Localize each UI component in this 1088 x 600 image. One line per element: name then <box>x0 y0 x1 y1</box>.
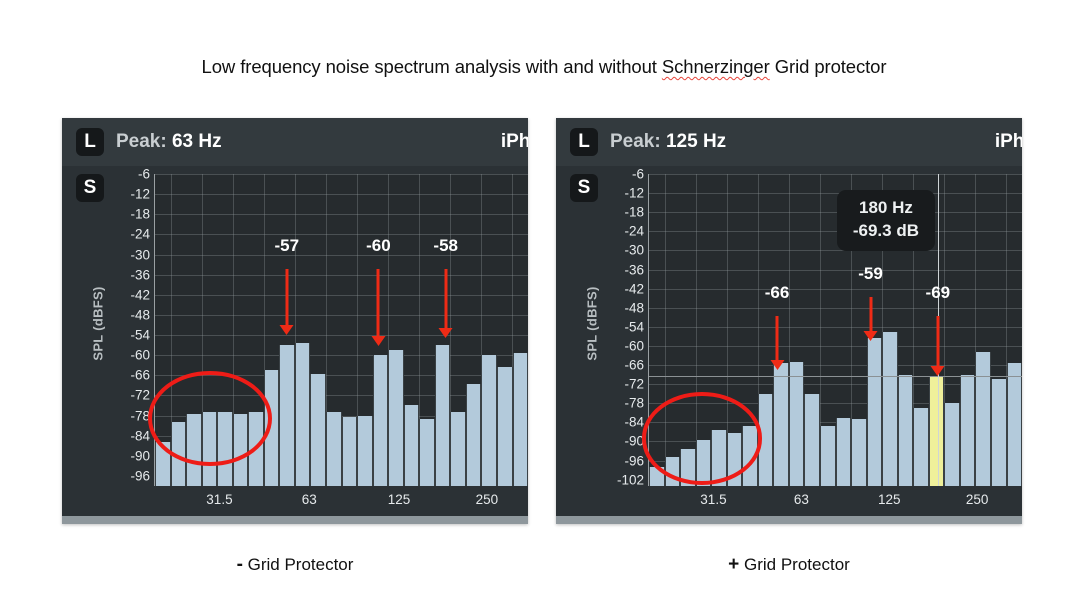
highlight-ellipse <box>148 371 272 466</box>
y-tick-label: -72 <box>130 388 150 403</box>
peak-value-left: 63 Hz <box>172 131 222 152</box>
y-tick-label: -60 <box>624 338 644 353</box>
x-tick-label: 250 <box>476 492 499 507</box>
peak-annotation-arrow <box>869 297 872 332</box>
y-tick-label: -42 <box>130 287 150 302</box>
page-title-before: Low frequency noise spectrum analysis wi… <box>202 56 662 77</box>
peak-label-left: Peak: <box>116 131 167 152</box>
y-tick-label: -24 <box>624 224 644 239</box>
channel-badge-l[interactable]: L <box>76 128 104 156</box>
peak-annotation-label: -66 <box>765 283 790 303</box>
y-tick-label: -54 <box>624 319 644 334</box>
y-tick-label: -102 <box>617 472 644 487</box>
plot-wrap-left: SPL (dBFS) -6-12-18-24-30-36-42-48-54-60… <box>62 166 528 524</box>
bar <box>929 376 945 486</box>
y-tick-label: -30 <box>624 243 644 258</box>
peak-readout-left: Peak: 63 Hz <box>116 131 222 153</box>
caption-right: + Grid Protector <box>728 554 850 576</box>
bar <box>882 332 898 486</box>
bar <box>1007 363 1022 486</box>
caption-right-sign: + <box>728 554 739 575</box>
page-title: Low frequency noise spectrum analysis wi… <box>0 56 1088 78</box>
y-tick-label: -48 <box>130 307 150 322</box>
bar <box>820 426 836 486</box>
peak-annotation-arrow <box>285 269 288 326</box>
bar <box>789 362 805 486</box>
y-axis-labels-left: -6-12-18-24-30-36-42-48-54-60-66-72-78-8… <box>108 174 150 486</box>
y-tick-label: -6 <box>138 167 150 182</box>
x-tick-label: 125 <box>388 492 411 507</box>
peak-annotation-label: -59 <box>858 264 883 284</box>
peak-annotation-arrow <box>444 269 447 329</box>
device-name-right: iPho <box>995 131 1022 153</box>
spectrum-panel-right: L Peak: 125 Hz iPho S SPL (dBFS) -6-12-1… <box>556 118 1022 524</box>
bar <box>991 379 1007 486</box>
bar <box>867 338 883 486</box>
bar <box>960 375 976 486</box>
panel-footer-right <box>556 516 1022 524</box>
bar <box>279 345 295 486</box>
x-tick-label: 250 <box>966 492 989 507</box>
x-tick-label: 31.5 <box>700 492 726 507</box>
y-tick-label: -6 <box>632 167 644 182</box>
y-tick-label: -42 <box>624 281 644 296</box>
y-tick-label: -72 <box>624 377 644 392</box>
bar <box>326 412 342 486</box>
y-tick-label: -66 <box>624 358 644 373</box>
threshold-line <box>649 376 1022 377</box>
bar <box>497 367 513 486</box>
bar <box>773 363 789 486</box>
tooltip-frequency: 180 Hz <box>853 197 919 220</box>
y-axis-title-right: SPL (dBFS) <box>585 264 600 384</box>
highlight-ellipse <box>642 392 762 484</box>
bar <box>851 419 867 486</box>
caption-left-text: Grid Protector <box>243 555 354 574</box>
peak-value-right: 125 Hz <box>666 131 726 152</box>
bar <box>898 375 914 486</box>
bar <box>836 418 852 486</box>
caption-left: - Grid Protector <box>237 554 354 576</box>
bar <box>295 343 311 486</box>
bar <box>388 350 404 486</box>
tooltip-level: -69.3 dB <box>853 220 919 243</box>
bar <box>975 352 991 486</box>
bar <box>357 416 373 486</box>
y-tick-label: -90 <box>130 448 150 463</box>
bar <box>804 394 820 486</box>
channel-badge-l[interactable]: L <box>570 128 598 156</box>
y-tick-label: -48 <box>624 300 644 315</box>
y-tick-label: -12 <box>130 187 150 202</box>
y-tick-label: -78 <box>624 396 644 411</box>
y-tick-label: -66 <box>130 368 150 383</box>
x-tick-label: 125 <box>878 492 901 507</box>
y-tick-label: -36 <box>130 267 150 282</box>
bar <box>466 384 482 486</box>
peak-annotation-label: -58 <box>433 236 458 256</box>
y-tick-label: -24 <box>130 227 150 242</box>
y-tick-label: -84 <box>624 415 644 430</box>
peak-annotation-label: -60 <box>366 236 391 256</box>
y-tick-label: -18 <box>624 205 644 220</box>
y-tick-label: -96 <box>130 468 150 483</box>
mode-badge-s-right[interactable]: S <box>570 174 598 202</box>
bar <box>419 419 435 486</box>
spectrum-panel-left: L Peak: 63 Hz iPho S SPL (dBFS) -6-12-18… <box>62 118 528 524</box>
y-tick-label: -18 <box>130 207 150 222</box>
bar <box>373 355 389 486</box>
x-tick-label: 63 <box>302 492 317 507</box>
y-axis-title-left: SPL (dBFS) <box>91 264 106 384</box>
peak-annotation-arrow <box>776 316 779 361</box>
peak-annotation-label: -69 <box>926 283 951 303</box>
y-tick-label: -60 <box>130 348 150 363</box>
bar <box>342 417 358 486</box>
y-tick-label: -54 <box>130 328 150 343</box>
bar <box>310 374 326 486</box>
y-axis-labels-right: -6-12-18-24-30-36-42-48-54-60-66-72-78-8… <box>602 174 644 486</box>
x-tick-label: 63 <box>794 492 809 507</box>
bar <box>450 412 466 486</box>
app-header-right: L Peak: 125 Hz iPho <box>556 118 1022 166</box>
y-tick-label: -36 <box>624 262 644 277</box>
bar <box>435 345 451 486</box>
bar <box>944 403 960 486</box>
y-tick-label: -84 <box>130 428 150 443</box>
peak-annotation-arrow <box>377 269 380 337</box>
device-name-left: iPho <box>501 131 528 153</box>
bar <box>913 408 929 486</box>
y-tick-label: -30 <box>130 247 150 262</box>
charts-container: L Peak: 63 Hz iPho S SPL (dBFS) -6-12-18… <box>0 118 1088 524</box>
plot-wrap-right: SPL (dBFS) -6-12-18-24-30-36-42-48-54-60… <box>556 166 1022 524</box>
y-tick-label: -12 <box>624 186 644 201</box>
peak-label-right: Peak: <box>610 131 661 152</box>
caption-right-text: Grid Protector <box>739 555 850 574</box>
page-title-misspelled-word: Schnerzinger <box>662 56 770 77</box>
panel-footer-left <box>62 516 528 524</box>
bar <box>513 353 528 486</box>
peak-readout-right: Peak: 125 Hz <box>610 131 726 153</box>
peak-annotation-label: -57 <box>274 236 299 256</box>
mode-badge-s-left[interactable]: S <box>76 174 104 202</box>
page-title-after: Grid protector <box>770 56 887 77</box>
x-tick-label: 31.5 <box>206 492 232 507</box>
bar <box>404 405 420 486</box>
app-header-left: L Peak: 63 Hz iPho <box>62 118 528 166</box>
bar <box>481 355 497 486</box>
measurement-tooltip: 180 Hz-69.3 dB <box>837 190 935 252</box>
y-tick-label: -96 <box>624 453 644 468</box>
peak-annotation-arrow <box>936 316 939 367</box>
